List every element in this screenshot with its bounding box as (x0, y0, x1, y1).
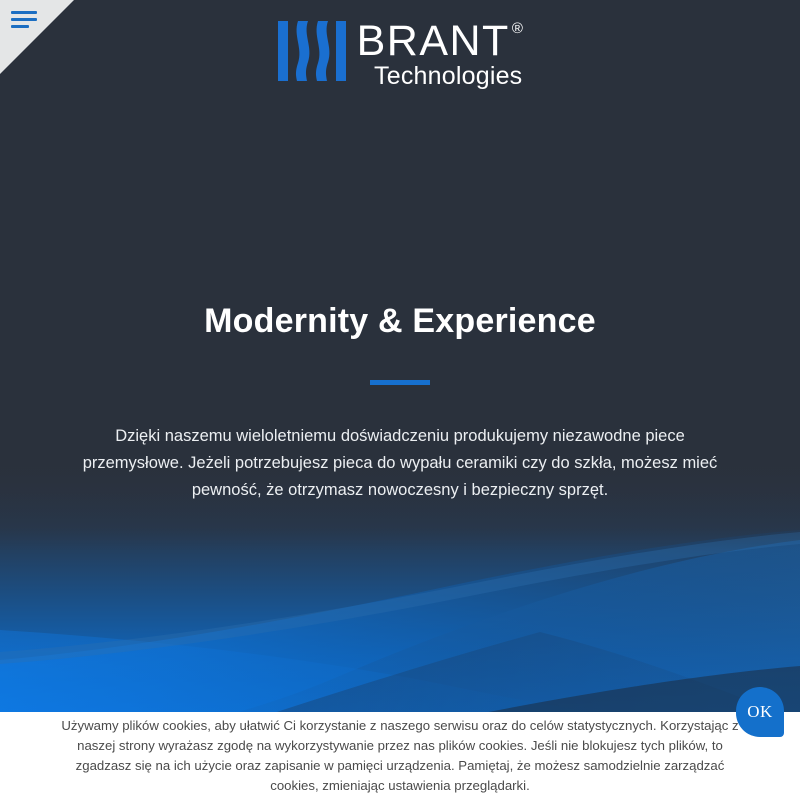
brant-wave-bars-icon (276, 18, 348, 84)
title-divider (370, 380, 430, 385)
hero-section: Modernity & Experience Dzięki naszemu wi… (0, 300, 800, 504)
hamburger-bar-3 (11, 25, 29, 28)
hero-paragraph: Dzięki naszemu wieloletniemu doświadczen… (70, 423, 730, 504)
logo-inner: BRANT ® Technologies (276, 18, 525, 91)
logo-subtitle: Technologies (374, 61, 522, 91)
cookie-banner: Używamy plików cookies, aby ułatwić Ci k… (0, 712, 800, 800)
cookie-banner-text: Używamy plików cookies, aby ułatwić Ci k… (50, 716, 750, 796)
cookie-accept-button[interactable]: OK (736, 687, 784, 737)
logo-wordmark: BRANT ® Technologies (357, 18, 525, 91)
hamburger-menu-icon[interactable] (11, 11, 37, 29)
registered-trademark-icon: ® (512, 21, 525, 37)
hamburger-bar-1 (11, 11, 37, 14)
hamburger-bar-2 (11, 18, 37, 21)
logo-brand-name: BRANT ® (357, 19, 525, 63)
page-root: BRANT ® Technologies Modernity & Experie… (0, 0, 800, 800)
page-title: Modernity & Experience (60, 300, 740, 342)
site-logo[interactable]: BRANT ® Technologies (0, 18, 800, 91)
logo-brand-text: BRANT (357, 19, 510, 63)
menu-button[interactable] (0, 0, 74, 74)
